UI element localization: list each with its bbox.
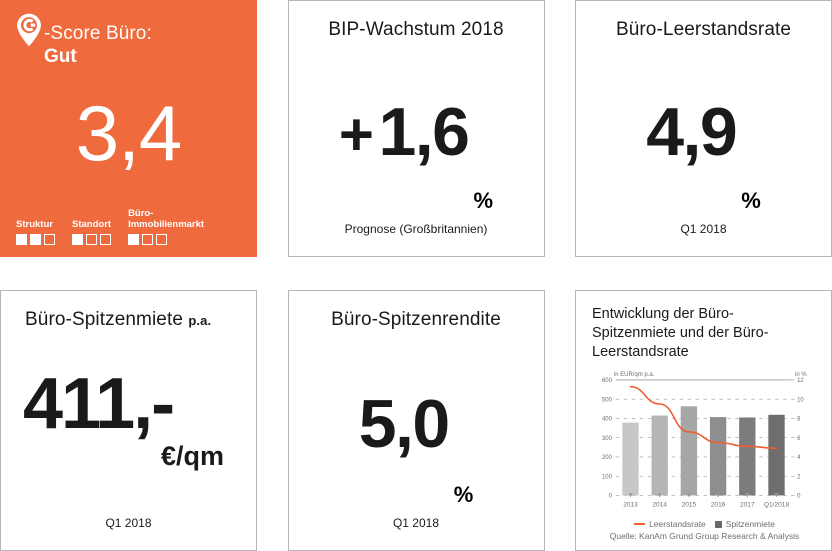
svg-text:10: 10 [797, 397, 804, 403]
development-chart-card[interactable]: Entwicklung der Büro-Spitzenmiete und de… [575, 290, 832, 551]
prime-yield-card[interactable]: Büro-Spitzenrendite 5,0 % Q1 2018 [288, 290, 545, 551]
score-title-wrap: -Score Büro: Gut [44, 14, 152, 69]
svg-text:400: 400 [602, 416, 613, 422]
grid-gap [288, 257, 545, 290]
grid-gap [545, 257, 576, 290]
criterion-standort[interactable]: Standort [72, 220, 111, 245]
value-sign: + [339, 105, 373, 165]
card-title: Büro-Spitzenmiete p.a. [21, 309, 236, 332]
rating-box-filled [72, 234, 83, 245]
svg-text:300: 300 [602, 435, 613, 441]
card-footnote: Q1 2018 [21, 516, 236, 532]
card-value: 5,0 [359, 390, 449, 458]
card-title-unit: p.a. [188, 313, 211, 328]
criterion-struktur[interactable]: Struktur [16, 220, 55, 245]
criterion-rating-boxes [128, 234, 204, 245]
gdp-growth-card[interactable]: BIP-Wachstum 2018 +1,6 % Prognose (Großb… [288, 0, 545, 257]
criterion-label: Büro- Immobilienmarkt [128, 209, 204, 230]
rating-box-empty [86, 234, 97, 245]
criterion-bueroimmobilienmarkt[interactable]: Büro- Immobilienmarkt [128, 209, 204, 245]
value-unit: % [454, 482, 474, 516]
svg-text:2: 2 [797, 474, 801, 480]
rating-box-filled [128, 234, 139, 245]
card-value: 411,- [21, 370, 236, 438]
legend-item-spitzenmiete: Spitzenmiete [715, 518, 775, 530]
value-number: 1,6 [378, 98, 468, 166]
card-value: 4,9 [646, 98, 736, 166]
score-header: -Score Büro: Gut [16, 14, 241, 69]
svg-text:0: 0 [609, 493, 613, 499]
svg-text:100: 100 [602, 474, 613, 480]
svg-text:500: 500 [602, 397, 613, 403]
card-footnote: Prognose (Großbritannien) [309, 222, 524, 238]
svg-text:6: 6 [797, 435, 801, 441]
rating-box-filled [30, 234, 41, 245]
card-value-row: +1,6 % [309, 42, 524, 222]
dashboard-grid: -Score Büro: Gut 3,4 Struktur Standort [0, 0, 832, 551]
svg-text:4: 4 [797, 455, 801, 461]
criterion-label: Struktur [16, 220, 55, 230]
bar-swatch-icon [715, 521, 722, 528]
chart-legend: Leerstandsrate Spitzenmiete Quelle: KanA… [592, 518, 817, 543]
svg-text:in %: in % [795, 371, 807, 377]
legend-label: Leerstandsrate [649, 518, 706, 530]
svg-text:2014: 2014 [652, 501, 667, 508]
criterion-rating-boxes [72, 234, 111, 245]
score-title: -Score Büro: [44, 23, 152, 45]
score-rating: Gut [44, 46, 152, 68]
svg-text:2013: 2013 [623, 501, 638, 508]
card-value-row: 411,- €/qm [21, 332, 236, 516]
legend-label: Spitzenmiete [726, 518, 775, 530]
grid-gap [257, 257, 288, 290]
card-value: +1,6 [339, 98, 469, 166]
svg-text:12: 12 [797, 378, 804, 384]
value-unit: % [741, 188, 761, 222]
score-value: 3,4 [16, 69, 241, 209]
criterion-rating-boxes [16, 234, 55, 245]
legend-row: Leerstandsrate Spitzenmiete [592, 518, 817, 530]
grid-gap [0, 257, 257, 290]
svg-text:600: 600 [602, 378, 613, 384]
svg-text:200: 200 [602, 455, 613, 461]
svg-text:0: 0 [797, 493, 801, 499]
card-title: Büro-Leerstandsrate [596, 19, 811, 42]
rating-box-empty [44, 234, 55, 245]
criterion-label: Standort [72, 220, 111, 230]
card-title: BIP-Wachstum 2018 [309, 19, 524, 42]
svg-text:in EUR/qm p.a.: in EUR/qm p.a. [614, 371, 655, 377]
value-unit: % [474, 188, 494, 222]
rating-box-empty [156, 234, 167, 245]
rating-box-empty [142, 234, 153, 245]
card-title: Büro-Spitzenrendite [309, 309, 524, 332]
card-footnote: Q1 2018 [596, 222, 811, 238]
chart-source: Quelle: KanAm Grund Group Research & Ana… [592, 530, 817, 542]
value-unit: €/qm [21, 441, 236, 472]
svg-text:8: 8 [797, 416, 801, 422]
card-title-text: Büro-Spitzenmiete [25, 309, 183, 330]
line-swatch-icon [634, 523, 645, 525]
combo-bar-line-chart: in EUR/qm p.a.in %0100200300400500600024… [592, 368, 817, 517]
grid-gap [257, 290, 288, 551]
svg-text:2015: 2015 [682, 501, 697, 508]
svg-text:2017: 2017 [740, 501, 755, 508]
chart-title: Entwicklung der Büro-Spitzenmiete und de… [592, 305, 817, 362]
card-value-row: 5,0 % [309, 332, 524, 516]
svg-text:Q1/2018: Q1/2018 [764, 501, 790, 508]
prime-rent-card[interactable]: Büro-Spitzenmiete p.a. 411,- €/qm Q1 201… [0, 290, 257, 551]
card-footnote: Q1 2018 [309, 516, 524, 532]
score-criteria-list: Struktur Standort Büro- Immobilienmarkt [16, 209, 241, 245]
chart-plot-area: in EUR/qm p.a.in %0100200300400500600024… [592, 368, 817, 517]
grid-gap [545, 0, 576, 257]
legend-item-leerstandsrate: Leerstandsrate [634, 518, 706, 530]
rating-box-filled [16, 234, 27, 245]
grid-gap [545, 290, 576, 551]
rating-box-empty [100, 234, 111, 245]
map-pin-c-icon [16, 13, 42, 47]
grid-gap [575, 257, 832, 290]
card-value-row: 4,9 % [596, 42, 811, 222]
grid-gap [257, 0, 288, 257]
svg-text:2016: 2016 [711, 501, 726, 508]
vacancy-rate-card[interactable]: Büro-Leerstandsrate 4,9 % Q1 2018 [575, 0, 832, 257]
score-card[interactable]: -Score Büro: Gut 3,4 Struktur Standort [0, 0, 257, 257]
